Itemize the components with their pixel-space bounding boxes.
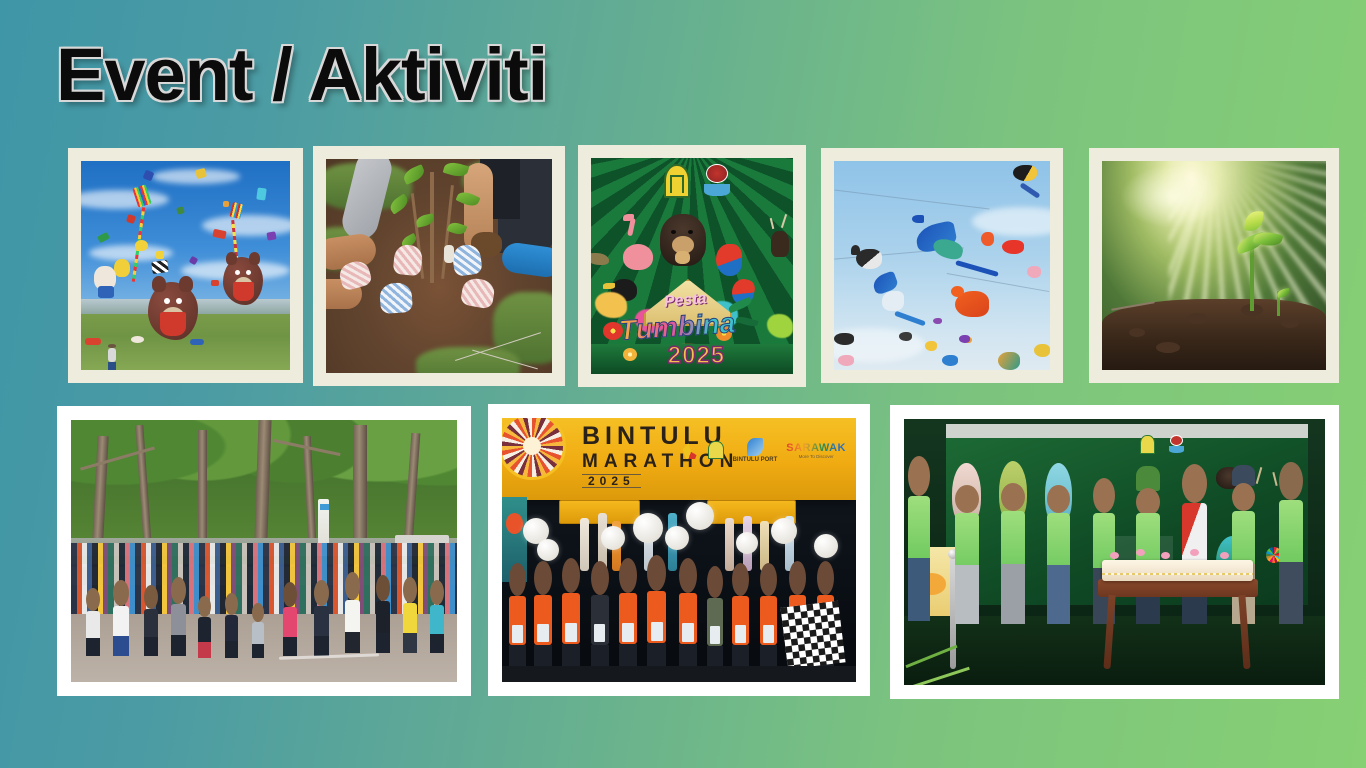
sponsor-label: BINTULU PORT	[733, 457, 778, 463]
person	[86, 588, 100, 656]
photo-tree-planting	[326, 159, 552, 373]
bintulu-port-icon: BINTULU PORT	[733, 438, 778, 463]
photo-cake-ceremony	[904, 419, 1325, 685]
photo-kites-sky	[834, 161, 1050, 370]
photo-card-seedling[interactable]	[1089, 148, 1339, 383]
photo-card-bintulu-marathon[interactable]: BINTULU MARATHON 2025 BINTULU PORT SARAW…	[488, 404, 870, 696]
marathon-year: 2025	[582, 474, 641, 488]
photo-bintulu-marathon: BINTULU MARATHON 2025 BINTULU PORT SARAW…	[502, 418, 856, 682]
sponsor-sublabel: More To Discover	[786, 454, 846, 459]
photo-community-run	[71, 420, 457, 682]
ceremonial-cake	[1102, 560, 1254, 581]
photo-card-kite-festival[interactable]	[68, 148, 303, 383]
bda-emblem-icon	[1140, 435, 1155, 454]
sarawak-wordmark-icon: SARAWAK More To Discover	[786, 442, 846, 459]
bda-emblem-icon	[708, 441, 724, 460]
sarawak-agency-logo	[704, 164, 730, 196]
photo-kite-festival	[81, 161, 290, 370]
page-title: Event / Aktiviti	[56, 36, 547, 114]
person	[908, 456, 930, 621]
sponsor-logo-row: BINTULU PORT SARAWAK More To Discover	[683, 438, 846, 463]
sponsor-label: SARAWAK	[786, 442, 846, 454]
marathon-sunburst-logo	[502, 418, 566, 480]
marathon-banner: BINTULU MARATHON 2025 BINTULU PORT SARAW…	[502, 418, 856, 500]
bda-emblem-logo	[664, 164, 690, 198]
photo-card-community-run[interactable]	[57, 406, 471, 696]
photo-card-tree-planting[interactable]	[313, 146, 565, 386]
photo-card-kites-sky[interactable]	[821, 148, 1063, 383]
photo-tumbina-poster: Pesta Tumbina 2025	[591, 158, 793, 374]
checkered-flag	[780, 601, 845, 670]
poster-year: 2025	[668, 342, 725, 370]
photo-card-cake-ceremony[interactable]	[890, 405, 1339, 699]
photo-card-tumbina-poster[interactable]: Pesta Tumbina 2025	[578, 145, 806, 387]
ceremony-table	[1098, 579, 1258, 598]
sarawak-crest-icon	[683, 441, 699, 460]
sarawak-agency-icon	[1169, 435, 1184, 453]
photo-seedling	[1102, 161, 1326, 370]
runner	[509, 563, 526, 674]
person-vip-guest-of-honour	[1182, 464, 1207, 624]
